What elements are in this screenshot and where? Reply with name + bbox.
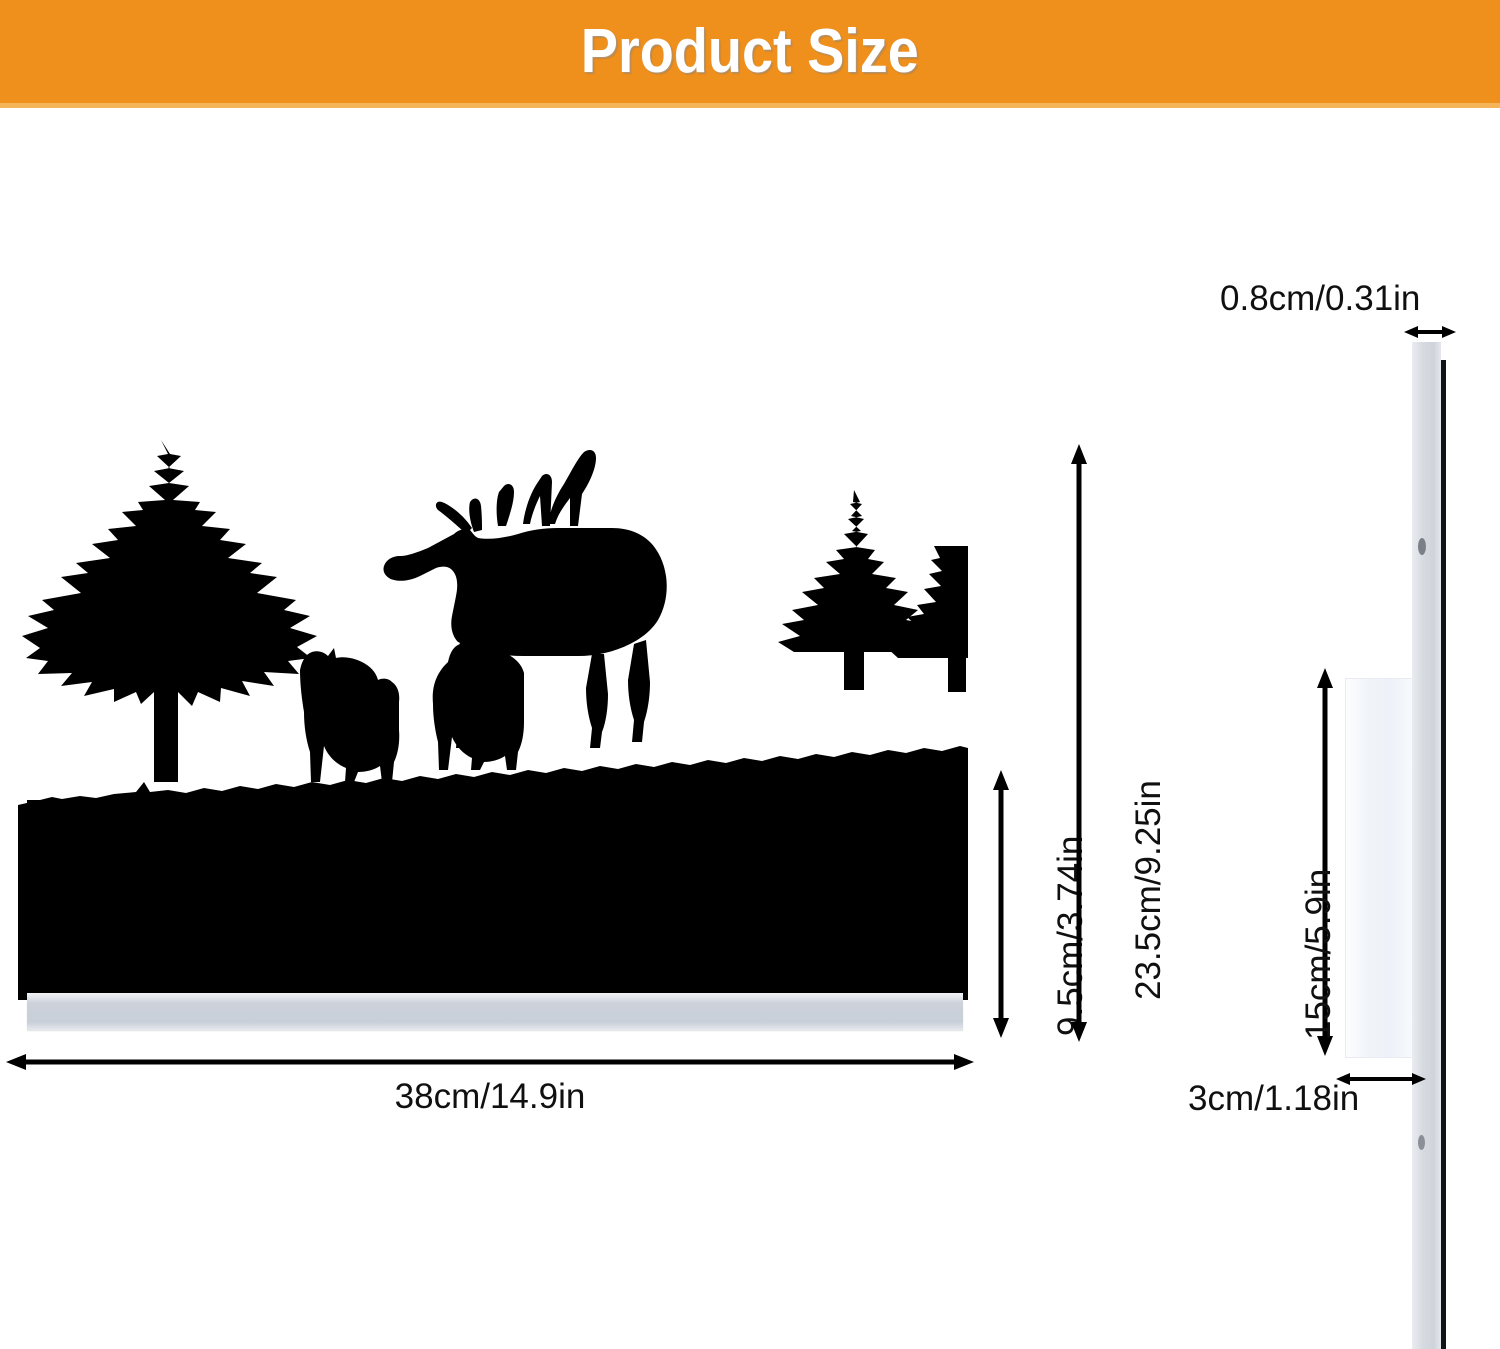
width-dimension-label: 38cm/14.9in xyxy=(0,1078,980,1116)
elk-hind-leg-left xyxy=(586,654,608,748)
total-height-dimension-arrow xyxy=(1062,438,1096,1048)
second-deer-silhouette xyxy=(433,640,524,770)
antler-tine-mid xyxy=(497,484,514,526)
antler-main-beam-right xyxy=(548,450,596,526)
small-fir-tree-center-right xyxy=(778,490,932,690)
thickness-dimension-label: 0.8cm/0.31in xyxy=(1220,280,1420,318)
elk-hind-leg-right xyxy=(628,640,650,742)
side-view-board-edge-shadow xyxy=(1441,360,1446,1349)
solid-black-panel xyxy=(27,800,963,1000)
large-fir-tree xyxy=(22,440,317,782)
screw-hole-icon xyxy=(1418,1135,1425,1150)
total-height-dimension-label: 23.5cm/9.25in xyxy=(1130,780,1168,1000)
base-edge-strip xyxy=(27,993,963,1030)
wildlife-silhouette-artwork xyxy=(18,430,968,1000)
bracket-depth-dimension-label: 3cm/1.18in xyxy=(1188,1080,1359,1118)
small-deer-silhouette xyxy=(300,648,399,782)
screw-hole-icon xyxy=(1418,538,1426,555)
bracket-height-dimension-label: 15cm/5.9in xyxy=(1300,869,1338,1040)
product-size-infographic: Product Size xyxy=(0,0,1500,1349)
front-view-group: 38cm/14.9in 9.5cm/3.74in 23.5cm/9.25in xyxy=(0,0,1000,1060)
side-view-group: 0.8cm/0.31in 15cm/5.9in 3cm/1.18in xyxy=(1180,280,1500,1349)
panel-height-dimension-arrow xyxy=(984,764,1018,1044)
antler-tine-upper xyxy=(523,474,552,526)
width-dimension-arrow xyxy=(0,1046,990,1080)
thickness-dimension-arrow xyxy=(1402,320,1458,344)
antler-brow-tine xyxy=(436,502,472,534)
elk-body xyxy=(383,528,666,656)
side-view-board xyxy=(1412,342,1441,1349)
side-view-bracket-panel xyxy=(1345,678,1413,1058)
